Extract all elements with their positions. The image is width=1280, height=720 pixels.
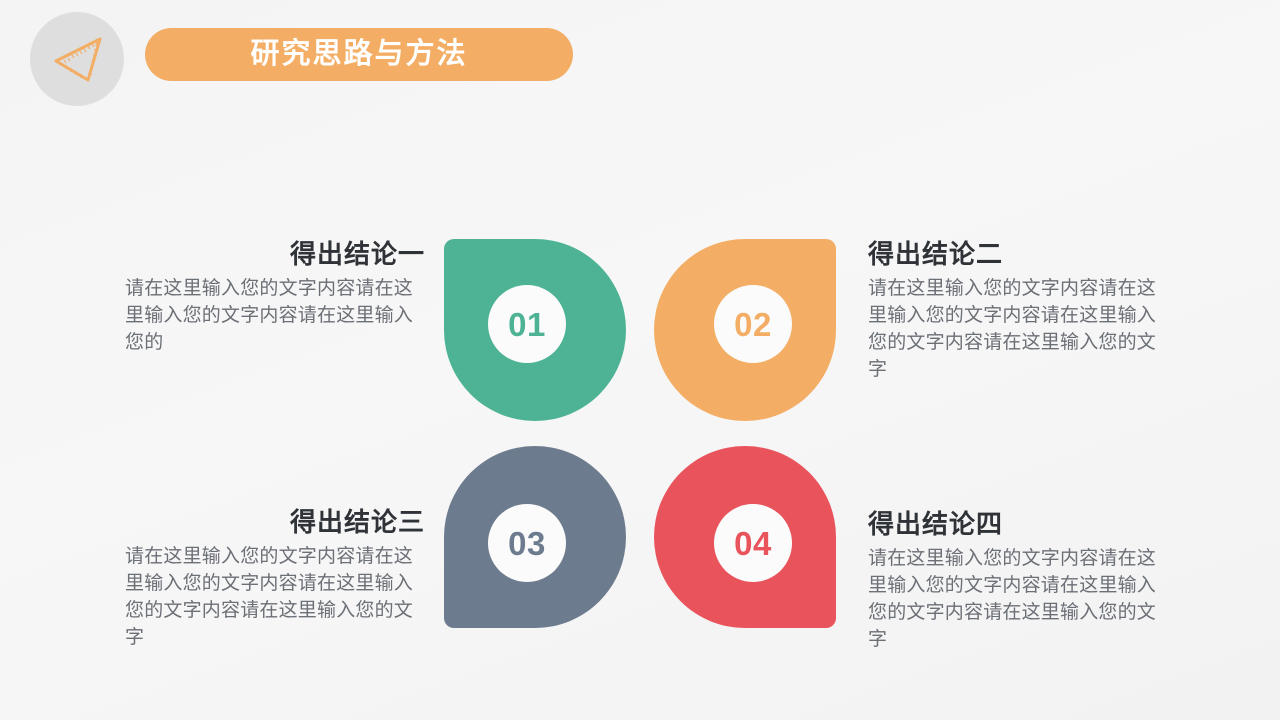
item-number-01: 01 [508,308,546,341]
item-body-03: 请在这里输入您的文字内容请在这里输入您的文字内容请在这里输入您的文字内容请在这里… [125,544,425,652]
item-text-block-01: 得出结论一 请在这里输入您的文字内容请在这里输入您的文字内容请在这里输入您的 [125,240,425,357]
item-body-04: 请在这里输入您的文字内容请在这里输入您的文字内容请在这里输入您的文字内容请在这里… [868,546,1168,654]
content-stage: 01 02 03 04 得出结论一 请在这里输入您的文字内容请在这里输入您的文字… [0,0,1280,720]
item-shape-01[interactable]: 01 [444,239,626,421]
item-title-01: 得出结论一 [125,240,425,270]
item-title-04: 得出结论四 [868,510,1168,540]
item-number-02: 02 [734,308,772,341]
item-number-badge-02: 02 [714,285,792,363]
item-shape-02[interactable]: 02 [654,239,836,421]
item-number-03: 03 [508,527,546,560]
item-number-04: 04 [734,527,772,560]
item-text-block-03: 得出结论三 请在这里输入您的文字内容请在这里输入您的文字内容请在这里输入您的文字… [125,508,425,652]
item-shape-03[interactable]: 03 [444,446,626,628]
item-text-block-02: 得出结论二 请在这里输入您的文字内容请在这里输入您的文字内容请在这里输入您的文字… [868,240,1168,384]
item-title-03: 得出结论三 [125,508,425,538]
item-number-badge-04: 04 [714,504,792,582]
item-number-badge-03: 03 [488,504,566,582]
item-body-01: 请在这里输入您的文字内容请在这里输入您的文字内容请在这里输入您的 [125,276,425,357]
item-shape-04[interactable]: 04 [654,446,836,628]
item-title-02: 得出结论二 [868,240,1168,270]
item-body-02: 请在这里输入您的文字内容请在这里输入您的文字内容请在这里输入您的文字内容请在这里… [868,276,1168,384]
item-number-badge-01: 01 [488,285,566,363]
item-text-block-04: 得出结论四 请在这里输入您的文字内容请在这里输入您的文字内容请在这里输入您的文字… [868,510,1168,654]
